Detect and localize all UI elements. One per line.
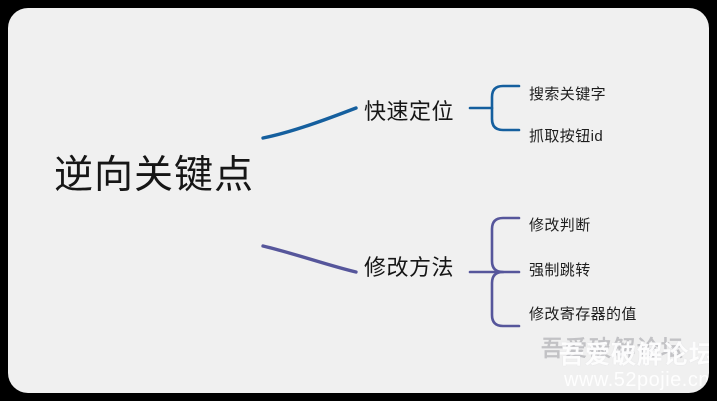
branch-curve-0 [263,108,356,138]
watermark-ghost-text: 吾爱破解论坛 [541,331,685,363]
leaf-node-force-jump[interactable]: 强制跳转 [529,263,591,278]
branch-bracket-0 [492,86,519,130]
branch-node-modify-method[interactable]: 修改方法 [364,257,454,279]
leaf-node-search-keyword[interactable]: 搜索关键字 [529,87,606,102]
mindmap-frame: 逆向关键点 快速定位 修改方法 搜索关键字 抓取按钮id 修改判断 强制跳转 修… [0,0,717,401]
watermark-url: www.52pojie.cn [559,369,709,391]
branch-node-quick-locate[interactable]: 快速定位 [364,101,454,123]
leaf-node-modify-condition[interactable]: 修改判断 [529,218,591,233]
branch-curve-1 [263,246,356,272]
leaf-node-grab-button-id[interactable]: 抓取按钮id [529,129,603,144]
watermark-title: 吾爱破解论坛 [559,342,709,368]
watermark: 吾爱破解论坛 www.52pojie.cn [559,342,709,391]
branch-bracket-1 [492,218,519,326]
root-node[interactable]: 逆向关键点 [54,156,254,195]
mindmap-canvas: 逆向关键点 快速定位 修改方法 搜索关键字 抓取按钮id 修改判断 强制跳转 修… [8,8,709,393]
connector-layer [8,8,709,393]
leaf-node-modify-register-value[interactable]: 修改寄存器的值 [529,307,637,322]
